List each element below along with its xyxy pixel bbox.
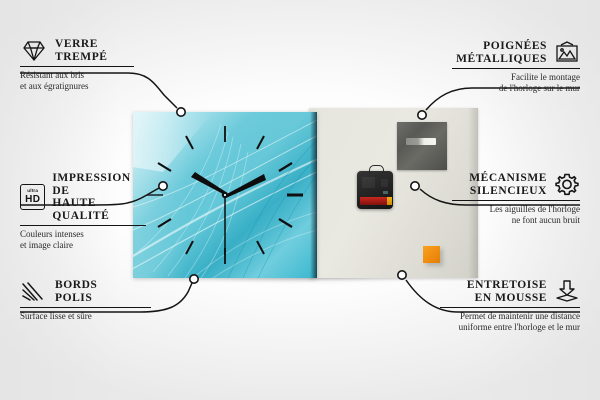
callout-title: ENTRETOISE EN MOUSSE [467, 279, 547, 304]
movement-terminal [383, 191, 388, 194]
foam-spacer-pad [423, 246, 440, 263]
callout-subtitle: Couleurs intenses et image claire [20, 229, 146, 250]
ultra-hd-icon-main-label: HD [25, 195, 40, 205]
gear-icon [554, 172, 580, 197]
ultra-hd-icon: ultra HD [20, 184, 45, 210]
callout-entretoise-en-mousse: ENTRETOISE EN MOUSSE Permet de maintenir… [440, 279, 580, 332]
callout-subtitle: Les aiguilles de l'horloge ne font aucun… [452, 204, 580, 225]
callout-header: ENTRETOISE EN MOUSSE [440, 279, 580, 304]
callout-header: ultra HD IMPRESSION DE HAUTE QUALITÉ [20, 172, 146, 222]
callout-rule [20, 66, 134, 67]
diagonal-lines-icon [20, 280, 48, 304]
callout-rule [20, 225, 146, 226]
callout-subtitle: Surface lisse et sûre [20, 311, 151, 322]
callout-title: VERRE TREMPÉ [55, 38, 108, 63]
callout-title: MÉCANISME SILENCIEUX [469, 172, 547, 197]
clock-face [133, 112, 317, 278]
clock-hands-and-ticks [133, 112, 317, 278]
diamond-icon [20, 39, 48, 63]
infographic-canvas: VERRE TREMPÉ Résistant aux bris et aux é… [0, 0, 600, 400]
movement-detail [362, 177, 375, 188]
callout-rule [440, 307, 580, 308]
callout-header: POIGNÉES MÉTALLIQUES [452, 40, 580, 65]
hanger-slot [406, 138, 436, 145]
callout-title: POIGNÉES MÉTALLIQUES [456, 40, 547, 65]
callout-bords-polis: BORDS POLIS Surface lisse et sûre [20, 279, 151, 322]
callout-header: BORDS POLIS [20, 279, 151, 304]
callout-rule [20, 307, 151, 308]
hanger-loop [369, 165, 384, 174]
callout-verre-trempe: VERRE TREMPÉ Résistant aux bris et aux é… [20, 38, 134, 91]
movement-detail-2 [381, 179, 388, 187]
callout-header: MÉCANISME SILENCIEUX [452, 172, 580, 197]
callout-mecanisme-silencieux: MÉCANISME SILENCIEUX Les aiguilles de l'… [452, 172, 580, 225]
callout-header: VERRE TREMPÉ [20, 38, 134, 63]
callout-rule [452, 200, 580, 201]
callout-subtitle: Résistant aux bris et aux égratignures [20, 70, 134, 91]
arrow-onto-pad-icon [554, 279, 580, 304]
callout-subtitle: Facilite le montage de l'horloge sur le … [452, 72, 580, 93]
metal-hanger-plate [397, 122, 447, 170]
product-photo [133, 108, 478, 280]
callout-poignees-metalliques: POIGNÉES MÉTALLIQUES Facilite le montage… [452, 40, 580, 93]
quartz-movement-box [357, 171, 393, 209]
battery-cap [387, 197, 392, 205]
framed-picture-icon [554, 41, 580, 65]
callout-title: BORDS POLIS [55, 279, 97, 304]
callout-title: IMPRESSION DE HAUTE QUALITÉ [52, 172, 146, 222]
battery [360, 197, 388, 205]
callout-subtitle: Permet de maintenir une distance uniform… [440, 311, 580, 332]
callout-impression-haute-qualite: ultra HD IMPRESSION DE HAUTE QUALITÉ Cou… [20, 172, 146, 250]
callout-rule [452, 68, 580, 69]
